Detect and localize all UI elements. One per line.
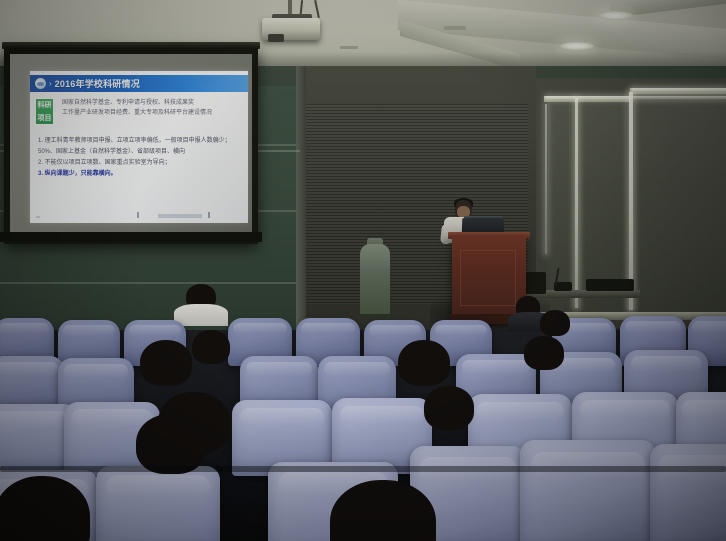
audience-person (524, 336, 564, 370)
slide-title-bar: › 2016年学校科研情况 (30, 75, 248, 92)
slide-intro-block: 国家自然科学基金、专利申请与授权、科技成果奖 工作量产业研发项目经费、重大专项及… (62, 98, 242, 118)
screen-bottom-bar (0, 232, 262, 242)
slide-numbered-list: 1. 理工科青年教师项目申报、立项立项率偏低，一般项目申报人数偏少； 50%、国… (38, 136, 242, 180)
chevron-right-icon: › (49, 80, 52, 88)
slide-footer-mark (137, 212, 139, 218)
ceiling-light-icon (560, 42, 594, 50)
seat[interactable] (650, 444, 726, 541)
slide-footer-mark (36, 216, 40, 218)
ceiling-vent (444, 26, 466, 30)
ceiling-light-icon (597, 11, 633, 20)
decorative-vase (360, 244, 390, 318)
audience-person (398, 340, 450, 386)
slide-footer (30, 210, 248, 220)
slide-tag-line2: 项目 (36, 112, 53, 125)
window-light-leak (632, 88, 726, 91)
ceiling-vent (340, 46, 358, 49)
window-roller-blind[interactable] (634, 92, 726, 316)
slide-footer-mark (158, 214, 202, 218)
slide-tag-line1: 科研 (36, 99, 53, 112)
slide-list-item: 1. 理工科青年教师项目申报、立项立项率偏低，一般项目申报人数偏少； (38, 136, 242, 147)
projector-lens-icon (268, 34, 284, 42)
audience-person (140, 340, 192, 386)
slide-intro-line: 国家自然科学基金、专利申请与授权、科技成果奖 (62, 98, 242, 108)
slide-body: 科研 项目 国家自然科学基金、专利申请与授权、科技成果奖 工作量产业研发项目经费… (30, 94, 248, 212)
slide-tag-badge: 科研 项目 (35, 98, 54, 125)
slide-list-item: 50%、国家上基金（自然科学基金）、省部级项目、横向 (38, 147, 242, 158)
conference-room-photo: › 2016年学校科研情况 科研 项目 国家自然科学基金、专利申请与授权、科技成… (0, 0, 726, 541)
slide-list-item-highlighted: 3. 纵向课题少，只能靠横向。 (38, 169, 242, 180)
slide-list-item: 2. 不能仅以项目立项数、国家重点实验室为导向； (38, 158, 242, 169)
audience-person (136, 414, 206, 474)
wall-column (296, 66, 306, 346)
window-light-leak (546, 96, 726, 99)
audience-person-shoulders (174, 304, 228, 326)
slide-intro-line: 工作量产业研发项目经费、重大专项及科研平台建设情况 (62, 108, 242, 118)
university-emblem-icon (35, 78, 46, 89)
window-light-leak (629, 92, 633, 310)
av-equipment (586, 279, 634, 291)
window-light-leak (545, 104, 547, 254)
seat[interactable] (520, 440, 656, 541)
audience-person (540, 310, 570, 336)
slide-footer-mark (208, 212, 210, 218)
audience-person (424, 386, 474, 430)
presentation-slide: › 2016年学校科研情况 科研 项目 国家自然科学基金、专利申请与授权、科技成… (30, 71, 248, 223)
audience-person (192, 330, 230, 364)
window-light-leak (575, 98, 578, 308)
podium-front-panel (460, 250, 516, 306)
seat[interactable] (96, 466, 220, 541)
slide-title: 2016年学校科研情况 (55, 77, 140, 90)
